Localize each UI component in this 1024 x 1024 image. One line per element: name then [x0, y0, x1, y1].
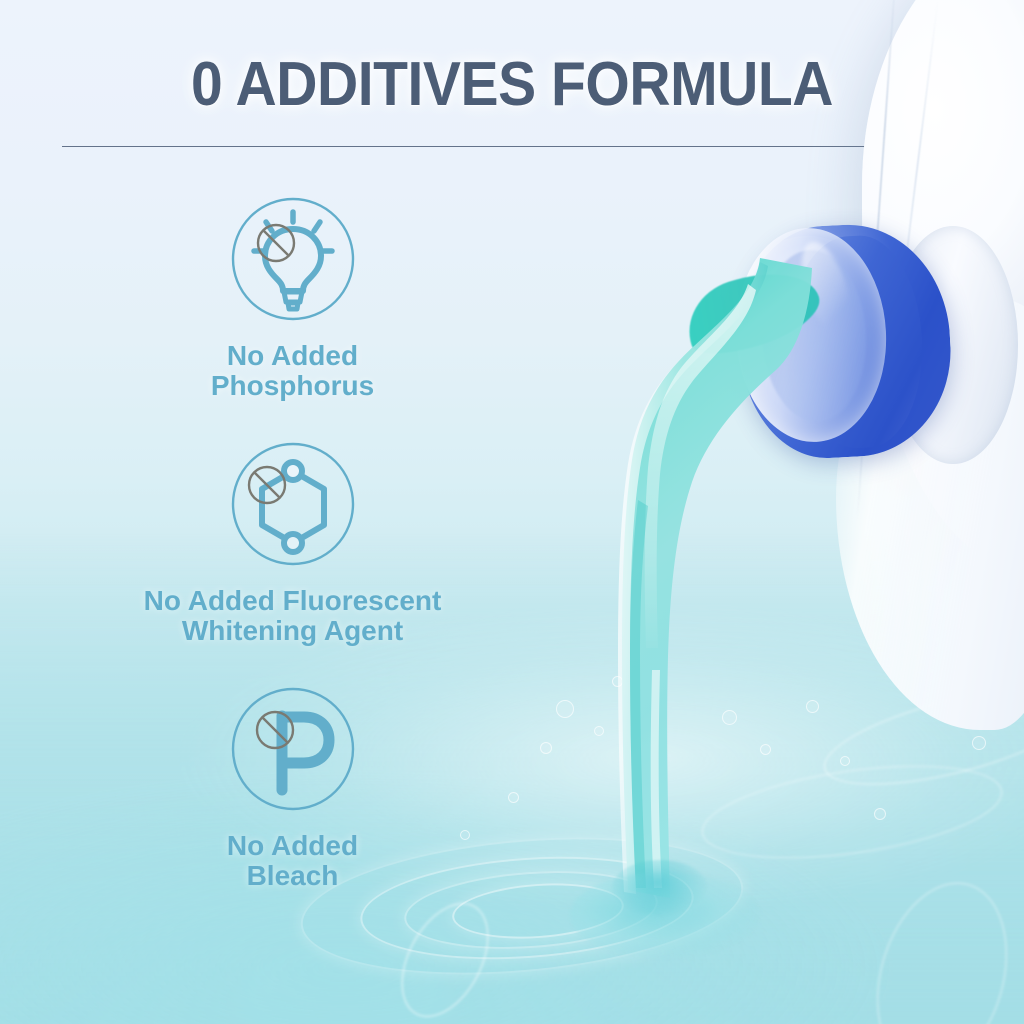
pool-bubble: [556, 700, 574, 718]
promo-banner: 0 ADDITIVES FORMULA: [0, 0, 1024, 1024]
pool-bubble: [722, 710, 737, 725]
pool-bubble: [652, 780, 661, 789]
feature-item-no-added-phosphorus: No Added Phosphorus: [60, 196, 525, 401]
molecule-hexagon-prohibited-icon: [60, 441, 525, 572]
pool-bubble: [612, 676, 623, 687]
pool-bubble: [540, 742, 552, 754]
feature-caption: No Added Fluorescent Whitening Agent: [60, 586, 525, 646]
feature-item-no-added-fluorescent-whitening-agent: No Added Fluorescent Whitening Agent: [60, 441, 525, 646]
feature-list: No Added Phosphorus No Added Fluorescent…: [60, 196, 525, 931]
pool-bubble: [840, 756, 850, 766]
lightbulb-prohibited-icon: [60, 196, 525, 327]
pool-bubble: [760, 744, 771, 755]
page-title: 0 ADDITIVES FORMULA: [41, 54, 983, 116]
pool-bubble: [806, 700, 819, 713]
feature-item-no-added-bleach: No Added Bleach: [60, 686, 525, 891]
pool-bubble: [594, 726, 604, 736]
title-divider: [62, 146, 960, 147]
letter-p-prohibited-icon: [60, 686, 525, 817]
pool-bubble: [874, 808, 886, 820]
pool-bubble: [972, 736, 986, 750]
feature-caption: No Added Phosphorus: [60, 341, 525, 401]
feature-caption: No Added Bleach: [60, 831, 525, 891]
